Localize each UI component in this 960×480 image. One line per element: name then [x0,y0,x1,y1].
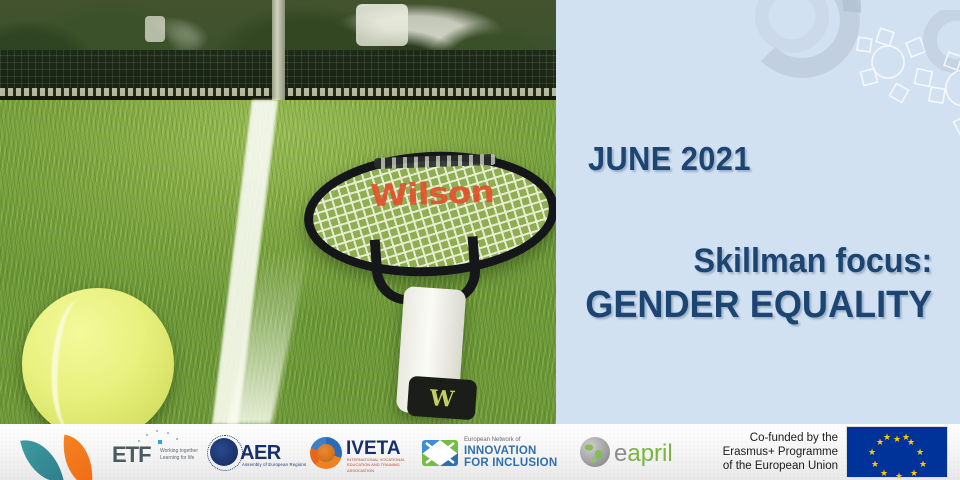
leaf-teal-icon [20,434,64,480]
inclusion-subtitle: European Network of [464,437,520,443]
etf-logo[interactable]: ETF Working together Learning for life [104,424,208,480]
tennis-racket-icon: Wilson W [300,152,546,424]
racket-brand-label: Wilson [362,176,501,215]
etf-tagline-line-2: Learning for life [160,455,198,462]
net-post [272,0,285,104]
iveta-logo[interactable]: IVETA INTERNATIONAL VOCATIONAL EDUCATION… [308,424,420,480]
date-label: JUNE 2021 [588,140,751,178]
iveta-globe-inner-icon [317,444,335,462]
iveta-tagline: INTERNATIONAL VOCATIONAL EDUCATION AND T… [347,457,415,473]
aer-tagline: Assembly of European Regions [242,462,306,467]
headline-line-2: GENDER EQUALITY [585,282,932,328]
slide-canvas: Wilson W [0,0,960,480]
inclusion-line-1: INNOVATION [464,445,537,457]
aer-europe-map-icon [210,438,238,466]
decorative-rings-graphic-secondary [860,10,960,140]
skillman-logo[interactable] [0,424,104,480]
etf-wordmark: ETF [112,442,151,468]
etf-tagline-line-1: Working together [160,448,198,455]
tennis-photo: Wilson W [0,0,556,424]
inclusion-arrow-icon [424,441,456,465]
eapril-logo[interactable]: eapril [570,424,702,480]
eapril-wordmark-april: april [627,440,672,467]
text-panel: JUNE 2021 Skillman focus: GENDER EQUALIT… [556,0,960,424]
etf-square-icon [158,440,162,444]
racket-butt-cap-mark: W [423,385,461,413]
headline-line-1: Skillman focus: [585,240,932,282]
eu-flag-icon: ★ ★ ★ ★ ★ ★ ★ ★ ★ ★ ★ ★ [846,426,948,478]
aer-logo[interactable]: AER Assembly of European Regions [208,424,308,480]
etf-tagline: Working together Learning for life [160,448,198,462]
sky-gap [356,4,408,46]
inclusion-line-2: FOR INCLUSION [464,457,557,469]
eapril-globe-continents-icon [580,437,610,467]
partner-logo-bar: ETF Working together Learning for life A… [0,424,960,480]
innovation-for-inclusion-logo[interactable]: European Network of INNOVATION FOR INCLU… [420,424,570,480]
eapril-wordmark-e: e [614,440,627,467]
eapril-wordmark: eapril [614,440,673,468]
sky-gap-secondary [145,16,165,42]
page-title: Skillman focus: GENDER EQUALITY [567,240,932,328]
leaf-orange-icon [58,435,99,480]
